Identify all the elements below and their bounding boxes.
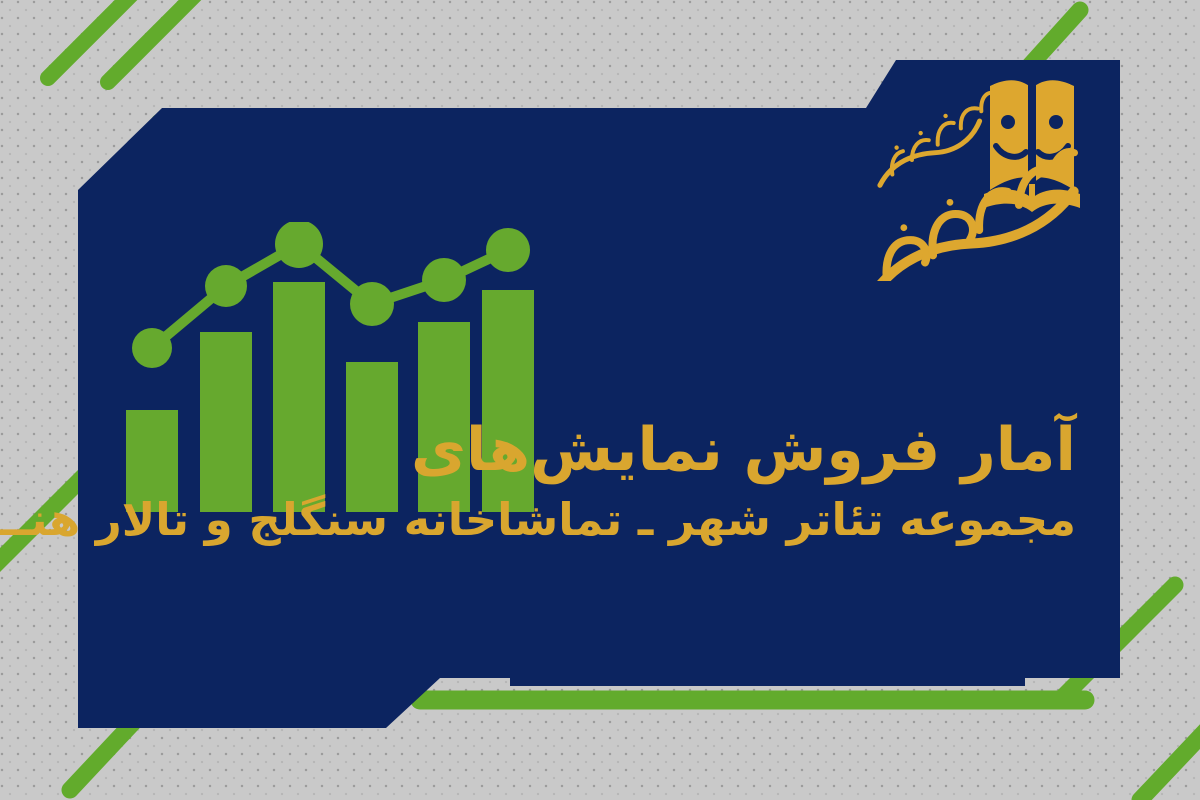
chart-marker-3 — [275, 222, 323, 268]
chart-bar-2 — [200, 332, 252, 512]
logo-eye-left — [1001, 115, 1015, 129]
chart-marker-1 — [132, 328, 172, 368]
chart-bar-4 — [346, 362, 398, 512]
logo-ministry-calligraphy — [872, 89, 1010, 186]
ministry-book-logo-icon — [872, 66, 1122, 281]
chart-bar-3 — [273, 282, 325, 512]
bar-line-chart-icon — [118, 222, 538, 512]
poster-canvas: آمار فروش نمایش‌های مجموعه تئاتر شهر ـ ت… — [0, 0, 1200, 800]
chart-marker-2 — [205, 265, 247, 307]
chart-marker-4 — [350, 282, 394, 326]
chart-bar-6 — [482, 290, 534, 512]
chart-marker-6 — [486, 228, 530, 272]
logo-eye-right — [1049, 115, 1063, 129]
chart-bar-5 — [418, 322, 470, 512]
chart-bar-1 — [126, 410, 178, 512]
chart-markers — [132, 222, 530, 368]
chart-marker-5 — [422, 258, 466, 302]
